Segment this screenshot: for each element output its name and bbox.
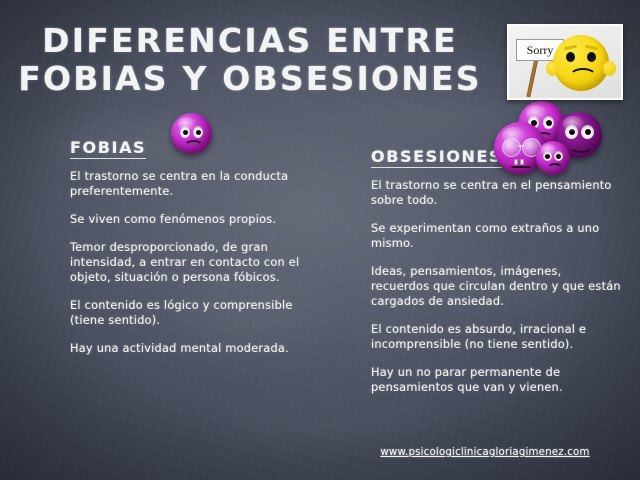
glasses-bridge (518, 145, 524, 147)
obsesiones-paragraph-3: Ideas, pensamientos, imágenes, recuerdos… (371, 264, 623, 309)
fobias-paragraph-4: El contenido es lógico y comprensible (t… (70, 298, 310, 328)
chalkboard-poster: DIFERENCIAS ENTRE FOBIAS Y OBSESIONES So… (0, 0, 640, 480)
face-eye-left (566, 52, 575, 62)
page-title: DIFERENCIAS ENTRE FOBIAS Y OBSESIONES (0, 22, 500, 98)
fobias-paragraph-2: Se viven como fenómenos propios. (70, 212, 310, 227)
face-tooth-left (514, 159, 518, 165)
title-line-2: FOBIAS Y OBSESIONES (0, 60, 500, 98)
obsesiones-paragraph-5: Hay un no parar permanente de pensamient… (371, 365, 623, 395)
face-brow-right (585, 45, 598, 51)
footer-website-url[interactable]: www.psicologiclinicagloriagimenez.com (340, 447, 630, 458)
fobias-paragraph-5: Hay una actividad mental moderada. (70, 341, 310, 356)
face-mouth-frown (184, 140, 203, 152)
yellow-sad-face-icon (553, 35, 609, 91)
face-eye-right (581, 125, 594, 139)
face-eye-right (587, 52, 596, 62)
face-mouth-frown (547, 163, 563, 173)
obsesiones-paragraph-1: El trastorno se centra en el pensamiento… (371, 178, 623, 208)
face-eye-left (565, 125, 578, 139)
fobias-paragraph-1: El trastorno se centra en la conducta pr… (70, 169, 310, 199)
column-heading-fobias: FOBIAS (70, 139, 146, 159)
column-obsesiones: OBSESIONES El trastorno se centra en el … (371, 147, 623, 408)
obsesiones-paragraph-2: Se experimentan como extraños a uno mism… (371, 221, 623, 251)
face-brow-left (564, 45, 577, 51)
face-ear-left (546, 61, 559, 76)
face-eye-left (180, 126, 190, 138)
glasses-icon (502, 138, 539, 155)
glasses-lens-left (502, 138, 521, 157)
face-eye-right (554, 151, 563, 161)
fobias-paragraph-3: Temor desproporcionado, de gran intensid… (70, 240, 310, 285)
face-mouth-frown (569, 68, 597, 86)
face-eye-right (193, 126, 203, 138)
fobias-purple-face-icon (171, 113, 212, 154)
purple-face-small-sad-icon (536, 141, 570, 175)
obsesiones-paragraph-4: El contenido es absurdo, irracional e in… (371, 322, 623, 352)
column-fobias: FOBIAS El trastorno se centra en la cond… (70, 138, 310, 369)
face-ear-right (603, 61, 616, 76)
column-heading-obsesiones: OBSESIONES (371, 148, 502, 168)
face-eye-right (543, 116, 554, 129)
face-eye-left (543, 151, 552, 161)
face-mouth-smile (569, 139, 593, 153)
title-line-1: DIFERENCIAS ENTRE (0, 22, 500, 60)
face-tooth-right (520, 159, 524, 165)
sorry-photo-frame: Sorry (507, 24, 623, 100)
sign-stick-icon (526, 56, 539, 98)
